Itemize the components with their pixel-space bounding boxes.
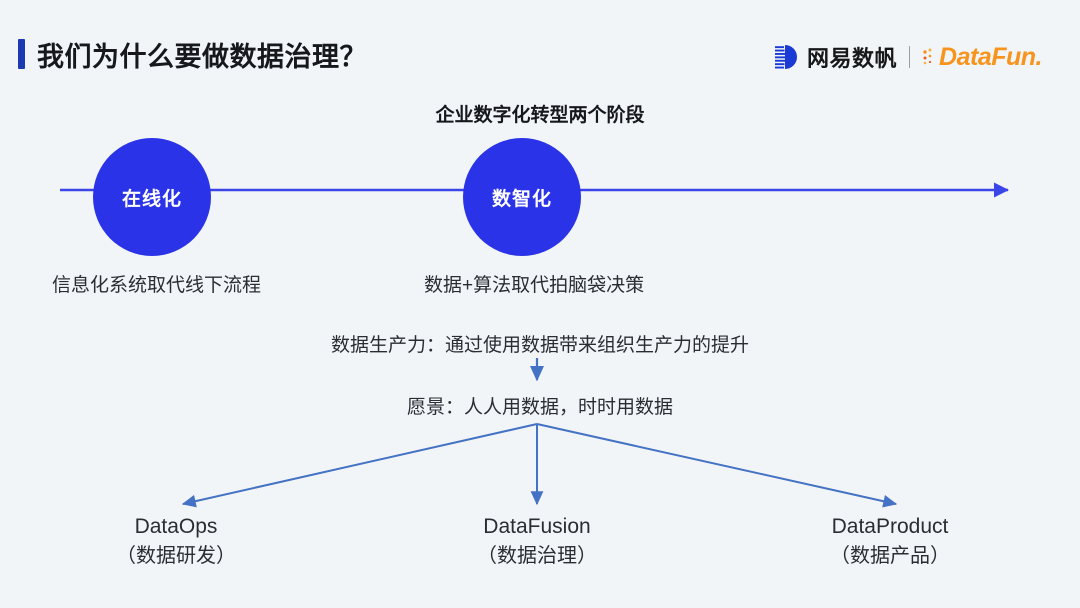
branch-item-dataops-cn: （数据研发） (56, 541, 296, 571)
datafun-logo-label: DataFun. (939, 43, 1042, 72)
datafun-logo: DataFun. (922, 43, 1042, 72)
title-accent-bar (18, 39, 25, 69)
branch-item-dataproduct-en: DataProduct (770, 513, 1010, 541)
branch-item-dataops[interactable]: DataOps （数据研发） (56, 513, 296, 571)
branch-item-dataproduct[interactable]: DataProduct （数据产品） (770, 513, 1010, 571)
branch-item-dataops-en: DataOps (56, 513, 296, 541)
logo-group: 网易数帆 DataFun. (774, 40, 1042, 74)
slide-canvas: 我们为什么要做数据治理？ 网易数帆 (0, 0, 1080, 608)
branch-item-datafusion[interactable]: DataFusion （数据治理） (417, 513, 657, 571)
branch-item-dataproduct-cn: （数据产品） (770, 541, 1010, 571)
stage-label-online: 在线化 (122, 184, 182, 211)
branch-arrow-right (537, 424, 896, 504)
netease-logo: 网易数帆 (774, 41, 897, 73)
statement-vision: 愿景：人人用数据，时时用数据 (0, 392, 1080, 419)
branch-arrow-left (183, 424, 537, 504)
branch-item-datafusion-cn: （数据治理） (417, 541, 657, 571)
netease-logo-label: 网易数帆 (807, 41, 897, 73)
stage-caption-intelligence: 数据+算法取代拍脑袋决策 (424, 270, 644, 297)
statement-productivity: 数据生产力：通过使用数据带来组织生产力的提升 (0, 330, 1080, 357)
stage-circle-intelligence[interactable]: 数智化 (463, 138, 581, 256)
title-label: 我们为什么要做数据治理？ (37, 35, 367, 74)
logo-divider (909, 46, 910, 68)
page-title: 我们为什么要做数据治理？ (18, 36, 367, 72)
stage-caption-online: 信息化系统取代线下流程 (52, 270, 261, 297)
diagram-subtitle: 企业数字化转型两个阶段 (0, 100, 1080, 127)
branch-item-datafusion-en: DataFusion (417, 513, 657, 541)
stage-circle-online[interactable]: 在线化 (93, 138, 211, 256)
netease-mark-icon (774, 44, 800, 70)
datafun-dots-icon (922, 46, 938, 68)
stage-label-intelligence: 数智化 (492, 184, 552, 211)
